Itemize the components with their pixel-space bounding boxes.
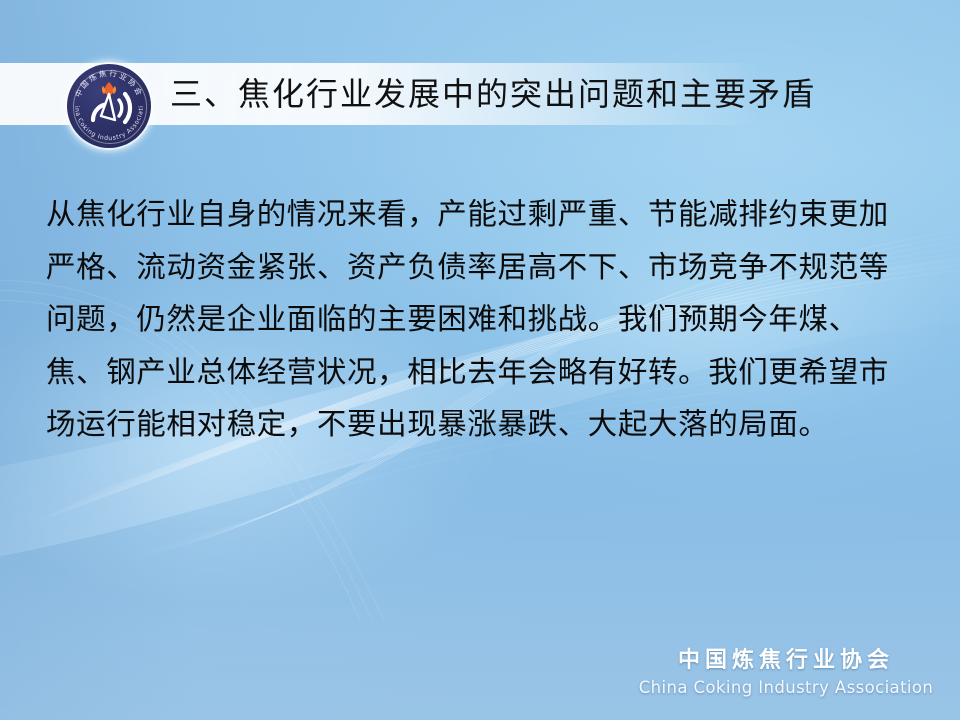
body-paragraph: 从焦化行业自身的情况来看，产能过剩严重、节能减排约束更加 严格、流动资金紧张、资… [46, 188, 926, 451]
body-line: 问题，仍然是企业面临的主要困难和挑战。我们预期今年煤、 [46, 293, 926, 346]
body-line: 从焦化行业自身的情况来看，产能过剩严重、节能减排约束更加 [46, 188, 926, 241]
body-line: 焦、钢产业总体经营状况，相比去年会略有好转。我们更希望市 [46, 346, 926, 399]
slide-canvas: 中国炼焦行业协会 China Coking Industry Associati… [0, 0, 960, 720]
logo-mark-icon: 中国炼焦行业协会 China Coking Industry Associati… [57, 54, 161, 158]
body-line: 场运行能相对稳定，不要出现暴涨暴跌、大起大落的局面。 [46, 398, 926, 451]
footer-branding: 中国炼焦行业协会 China Coking Industry Associati… [636, 646, 936, 700]
page-title: 三、焦化行业发展中的突出问题和主要矛盾 [170, 71, 816, 117]
svg-text:China Coking Industry Associat: China Coking Industry Association [57, 54, 145, 142]
footer-name-cn: 中国炼焦行业协会 [636, 646, 936, 676]
association-logo: 中国炼焦行业协会 China Coking Industry Associati… [57, 54, 161, 158]
footer-name-en: China Coking Industry Association [636, 676, 936, 700]
body-line: 严格、流动资金紧张、资产负债率居高不下、市场竞争不规范等 [46, 241, 926, 294]
